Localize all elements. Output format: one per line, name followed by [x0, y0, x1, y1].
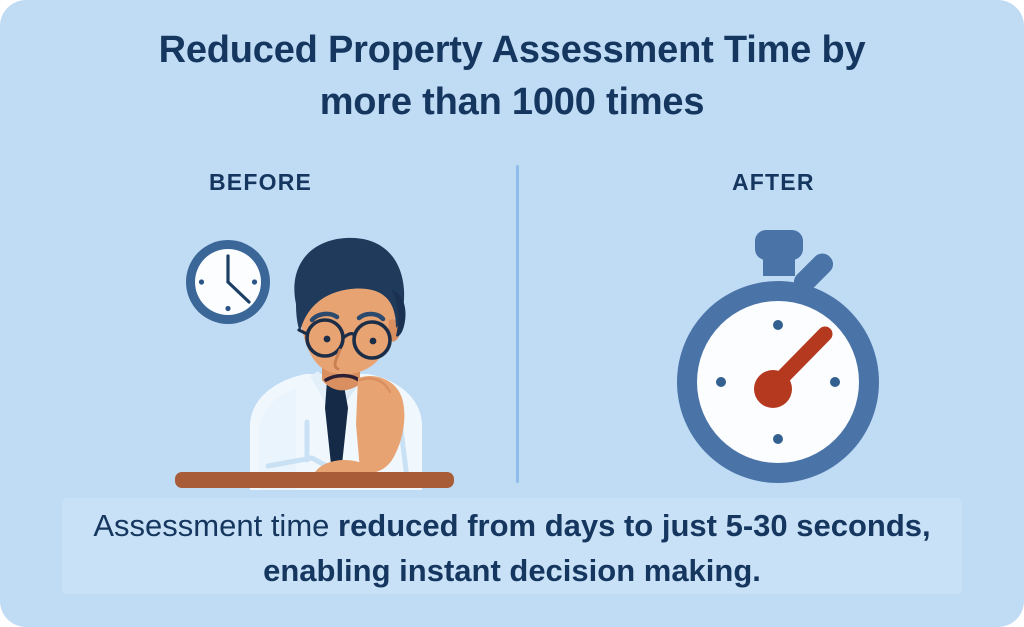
section-label-before: BEFORE — [209, 169, 312, 196]
after-illustration — [655, 222, 905, 490]
person-icon — [250, 238, 422, 490]
stopwatch-icon — [655, 222, 905, 490]
vertical-divider — [516, 165, 519, 483]
before-illustration — [160, 228, 470, 490]
title-line-2: more than 1000 times — [0, 76, 1024, 128]
caption-bold-text: reduced from days to just 5-30 seconds, … — [263, 508, 931, 588]
infographic-card: Reduced Property Assessment Time by more… — [0, 0, 1024, 627]
page-title: Reduced Property Assessment Time by more… — [0, 24, 1024, 128]
section-label-after: AFTER — [732, 169, 815, 196]
title-line-1: Reduced Property Assessment Time by — [0, 24, 1024, 76]
desk-icon — [175, 472, 454, 488]
caption-regular-text: Assessment time — [93, 508, 338, 543]
wall-clock-icon — [186, 240, 270, 324]
caption: Assessment time reduced from days to jus… — [62, 503, 962, 593]
